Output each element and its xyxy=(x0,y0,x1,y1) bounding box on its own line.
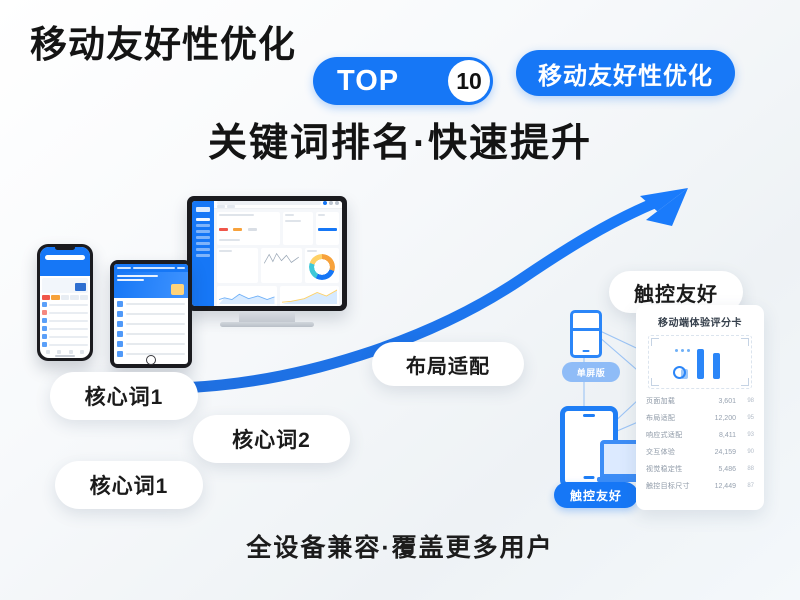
list-item-icon xyxy=(42,334,47,339)
dashboard-main xyxy=(214,201,342,306)
score-card-rows: 页面加载3,60198布局适配12,20095响应式适配8,41193交互体验2… xyxy=(646,396,754,491)
score-row-score: 90 xyxy=(736,449,754,455)
chart-corner xyxy=(651,378,659,386)
list-item xyxy=(40,326,90,331)
list-item xyxy=(117,301,185,307)
dashboard-sidebar xyxy=(192,201,214,306)
list-item-text xyxy=(126,343,185,345)
score-row-score: 93 xyxy=(736,432,754,438)
area-chart xyxy=(219,288,275,304)
list-item xyxy=(117,311,185,317)
top-10-badge: TOP 10 xyxy=(313,57,493,105)
score-card-title: 移动端体验评分卡 xyxy=(646,314,754,329)
tab-bar-icon xyxy=(69,350,73,354)
dot xyxy=(675,349,678,352)
tablet-header-item xyxy=(133,267,175,269)
chip xyxy=(51,295,59,300)
tab-bar-icon xyxy=(57,350,61,354)
phone-home-indicator xyxy=(55,355,75,357)
score-row-value: 12,449 xyxy=(710,483,736,490)
chip xyxy=(80,295,88,300)
phone-device xyxy=(37,244,93,361)
tablet-home-button xyxy=(146,355,156,365)
score-row: 交互体验24,15990 xyxy=(646,447,754,457)
dashboard-card xyxy=(316,212,339,245)
score-row-name: 响应式适配 xyxy=(646,430,710,440)
score-row-name: 布局适配 xyxy=(646,413,710,423)
card-label xyxy=(219,250,232,252)
dashboard-area-chart-card xyxy=(280,286,340,306)
list-item xyxy=(40,342,90,347)
single-screen-badge: 单屏版 xyxy=(562,362,620,382)
magnifier-icon xyxy=(673,366,686,379)
dashboard-nav-item xyxy=(196,248,210,251)
list-item-text xyxy=(49,304,88,306)
mobile-experience-diagram: 单屏版 触控友好 移动端体验评分卡 页面加载3,60198布局适配12,2009… xyxy=(548,300,770,515)
card-label xyxy=(307,250,318,252)
keyword-pill-2: 核心词2 xyxy=(193,415,350,463)
list-item-text xyxy=(49,312,88,314)
score-row-score: 88 xyxy=(736,466,754,472)
bar xyxy=(697,349,704,379)
list-item xyxy=(117,321,185,327)
list-item-icon xyxy=(117,321,123,327)
list-item-icon xyxy=(42,302,47,307)
layout-pill: 布局适配 xyxy=(372,342,524,386)
list-item-icon xyxy=(117,341,123,347)
dashboard-nav-item xyxy=(196,242,210,245)
dashboard-nav-item xyxy=(196,230,210,233)
list-item-text xyxy=(126,303,185,305)
poster-canvas: 移动友好性优化 TOP 10 移动友好性优化 关键词排名·快速提升 xyxy=(0,0,800,600)
phone-screen xyxy=(40,247,90,358)
tab-bar-icon xyxy=(46,350,50,354)
list-item xyxy=(117,341,185,347)
list-item-icon xyxy=(117,301,123,307)
card-tag xyxy=(219,228,228,231)
area-chart xyxy=(282,288,338,304)
card-label xyxy=(285,220,301,222)
dashboard-body xyxy=(214,209,342,306)
card-label xyxy=(318,214,325,216)
monitor-bezel xyxy=(187,196,347,311)
card-tag xyxy=(248,228,257,231)
score-row: 触控目标尺寸12,44987 xyxy=(646,481,754,491)
score-row-name: 触控目标尺寸 xyxy=(646,481,710,491)
tablet-banner xyxy=(114,272,188,298)
score-row: 布局适配12,20095 xyxy=(646,413,754,423)
corner-pill: 移动友好性优化 xyxy=(516,50,735,96)
chip xyxy=(70,295,78,300)
card-label xyxy=(219,214,254,216)
list-item-text xyxy=(126,313,185,315)
list-item xyxy=(40,334,90,339)
score-row-name: 交互体验 xyxy=(646,447,710,457)
phone-tab-bar xyxy=(40,350,90,354)
score-row-score: 98 xyxy=(736,398,754,404)
banner-image xyxy=(171,284,184,295)
toolbar-chip xyxy=(217,205,225,208)
list-item-icon xyxy=(117,331,123,337)
score-row: 响应式适配8,41193 xyxy=(646,430,754,440)
device-mockup-group xyxy=(22,192,352,377)
card-label xyxy=(285,214,294,216)
list-item-icon xyxy=(42,342,47,347)
banner-line xyxy=(117,279,144,281)
dashboard-donut-card xyxy=(305,248,339,283)
tablet-header-item xyxy=(177,267,185,269)
score-row-score: 87 xyxy=(736,483,754,489)
score-card-chart xyxy=(648,335,752,389)
dashboard-nav-item xyxy=(196,254,210,257)
dashboard-nav-item xyxy=(196,224,210,227)
score-row: 视觉稳定性5,48688 xyxy=(646,464,754,474)
card-tag xyxy=(318,228,337,231)
phone-notch xyxy=(55,245,75,250)
list-item xyxy=(40,302,90,307)
dashboard-nav-item xyxy=(196,218,210,221)
dashboard-card xyxy=(217,212,280,245)
bar xyxy=(713,353,720,379)
list-item-text xyxy=(126,333,185,335)
score-card: 移动端体验评分卡 页面加载3,60198布局适配12,20095响应式适配8,4… xyxy=(636,305,764,510)
list-item xyxy=(40,318,90,323)
monitor-stand xyxy=(239,311,295,322)
dot xyxy=(687,349,690,352)
score-row-value: 12,200 xyxy=(710,415,736,422)
phone-category-chips xyxy=(40,295,90,302)
phone-search-bar xyxy=(45,255,85,260)
toolbar-chip xyxy=(227,205,235,208)
tablet-header-item xyxy=(117,267,131,269)
tab-bar-icon xyxy=(80,350,84,354)
list-item-icon xyxy=(117,351,123,357)
list-item-text xyxy=(49,320,88,322)
list-item-text xyxy=(126,353,185,355)
dashboard-logo xyxy=(196,207,210,212)
dot xyxy=(681,349,684,352)
list-item-icon xyxy=(42,318,47,323)
chip xyxy=(42,295,50,300)
banner-line xyxy=(117,275,158,277)
dashboard-area-chart-card xyxy=(217,286,277,306)
score-row-value: 24,159 xyxy=(710,449,736,456)
keyword-pill-1: 核心词1 xyxy=(50,372,198,420)
top-badge-word: TOP xyxy=(337,65,399,98)
phone-feature-card xyxy=(42,278,88,293)
list-item-icon xyxy=(42,310,47,315)
card-thumbnail xyxy=(75,283,86,291)
list-item-text xyxy=(126,323,185,325)
chart-corner xyxy=(741,378,749,386)
list-item-icon xyxy=(42,326,47,331)
dashboard-card-row xyxy=(217,248,339,283)
page-title: 移动友好性优化 xyxy=(30,26,296,63)
desktop-monitor xyxy=(187,196,347,324)
dashboard-nav-item xyxy=(196,236,210,239)
tablet-screen xyxy=(114,264,188,364)
phone-header xyxy=(40,247,90,276)
score-row-name: 视觉稳定性 xyxy=(646,464,710,474)
monitor-screen xyxy=(192,201,342,306)
score-row-value: 3,601 xyxy=(710,398,736,405)
score-row-name: 页面加载 xyxy=(646,396,710,406)
top-badge-number: 10 xyxy=(448,60,490,102)
score-row-score: 95 xyxy=(736,415,754,421)
list-item-text xyxy=(49,344,88,346)
chip xyxy=(61,295,69,300)
dashboard-line-chart-card xyxy=(261,248,302,283)
card-label xyxy=(219,239,240,241)
card-tag xyxy=(233,228,242,231)
list-item xyxy=(117,331,185,337)
footer-tagline: 全设备兼容·覆盖更多用户 xyxy=(0,528,800,564)
dashboard-card-row xyxy=(217,286,339,306)
chart-dots xyxy=(675,349,690,352)
tablet-device xyxy=(110,260,192,368)
list-item-text xyxy=(49,336,88,338)
line-chart xyxy=(263,250,300,266)
list-item-text xyxy=(49,328,88,330)
dashboard-card xyxy=(283,212,314,245)
dashboard-card xyxy=(217,248,258,283)
bar-chart xyxy=(649,341,751,379)
dashboard-card-row xyxy=(217,212,339,245)
score-row-value: 5,486 xyxy=(710,466,736,473)
keyword-pill-3: 核心词1 xyxy=(55,461,203,509)
small-phone-icon xyxy=(570,310,602,358)
list-item xyxy=(40,310,90,315)
list-item-icon xyxy=(117,311,123,317)
score-row: 页面加载3,60198 xyxy=(646,396,754,406)
touch-friendly-badge: 触控友好 xyxy=(554,482,638,508)
monitor-base xyxy=(220,322,314,327)
page-subtitle: 关键词排名·快速提升 xyxy=(0,124,800,163)
tablet-header xyxy=(114,264,188,272)
score-row-value: 8,411 xyxy=(710,432,736,439)
donut-chart xyxy=(309,254,335,280)
